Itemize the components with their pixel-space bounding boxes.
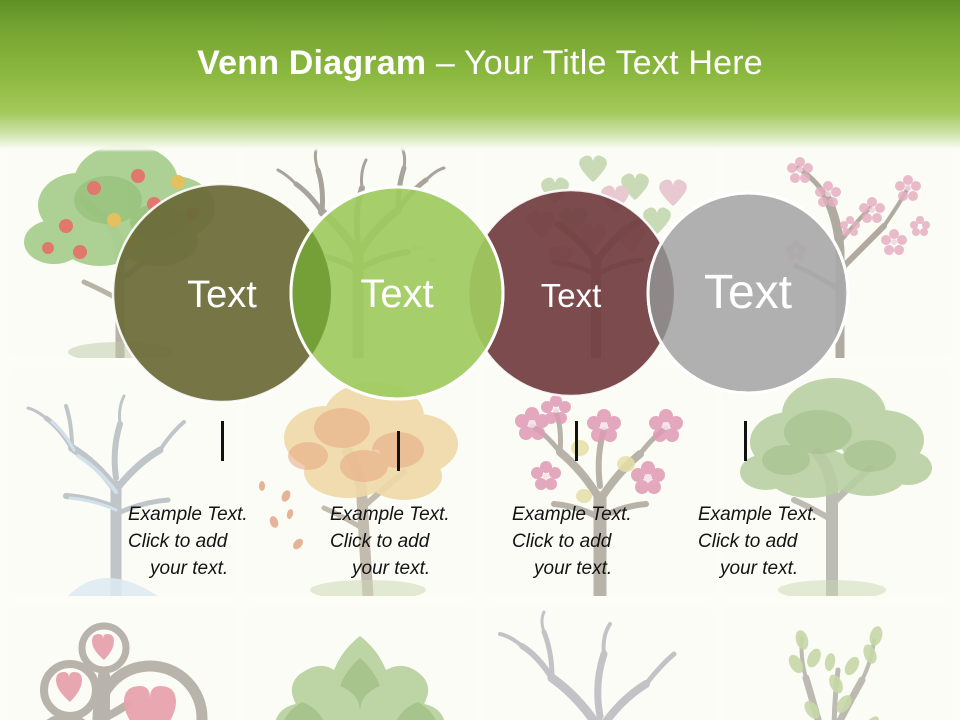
caption-2: Example Text. Click to add your text. [330,501,500,582]
caption-2-line1: Example Text. [330,501,500,528]
caption-1-line1: Example Text. [128,501,298,528]
heart-leaf-tree-icon [484,130,714,358]
connector-tick-4 [744,421,747,461]
budding-tree-icon [722,606,952,720]
connector-tick-2 [397,431,400,471]
caption-3-line3: your text. [512,555,682,582]
caption-4-line1: Example Text. [698,501,868,528]
caption-2-line2: Click to add [330,528,500,555]
caption-1: Example Text. Click to add your text. [128,501,298,582]
slide-header: Venn Diagram – Your Title Text Here [0,0,960,152]
cherry-blossom-tree-icon [722,130,952,358]
bg-card-leafy-green-tree [246,606,476,720]
page-title: Venn Diagram – Your Title Text Here [0,43,960,83]
bg-card-cherry-blossom-tree [722,130,952,358]
caption-3-line2: Click to add [512,528,682,555]
caption-3-line1: Example Text. [512,501,682,528]
bg-card-bare-tree [246,130,476,358]
caption-4: Example Text. Click to add your text. [698,501,868,582]
page-title-bold: Venn Diagram [197,44,426,82]
caption-4-line2: Click to add [698,528,868,555]
bg-card-dead-tree [484,606,714,720]
dead-tree-icon [484,606,714,720]
slide-canvas: Venn Diagram – Your Title Text Here [0,0,960,720]
caption-4-line3: your text. [698,555,868,582]
bare-tree-icon [246,130,476,358]
bg-card-apple-tree [8,130,238,358]
bg-card-heart-leaf-tree [484,130,714,358]
caption-1-line2: Click to add [128,528,298,555]
caption-2-line3: your text. [330,555,500,582]
bg-card-heart-spiral-tree [8,606,238,720]
apple-tree-icon [8,130,238,358]
bg-card-budding-tree [722,606,952,720]
heart-spiral-tree-icon [8,606,238,720]
connector-tick-1 [221,421,224,461]
caption-3: Example Text. Click to add your text. [512,501,682,582]
caption-1-line3: your text. [128,555,298,582]
connector-tick-3 [575,421,578,461]
page-title-rest: – Your Title Text Here [426,44,763,82]
leafy-green-tree-icon [246,606,476,720]
